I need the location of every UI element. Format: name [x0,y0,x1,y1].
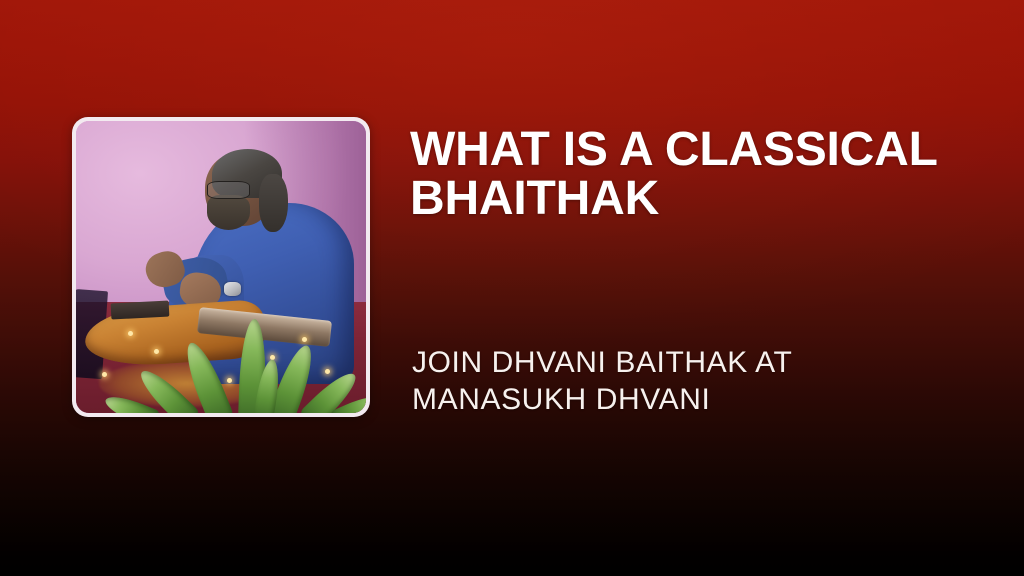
subtitle: JOIN DHVANI BAITHAK AT MANASUKH DHVANI [412,345,972,418]
promo-banner: WHAT IS A CLASSICAL BHAITHAK JOIN DHVANI… [0,0,1024,576]
subtitle-line-1: JOIN DHVANI BAITHAK AT [412,345,972,382]
headline-line-2: BHAITHAK [410,175,1010,224]
headline: WHAT IS A CLASSICAL BHAITHAK [410,126,1010,224]
headline-line-1: WHAT IS A CLASSICAL [410,126,1010,175]
photo-image [76,121,366,413]
photo-card [72,117,370,417]
subject-ponytail [259,174,288,232]
subtitle-line-2: MANASUKH DHVANI [412,382,972,419]
subject-glasses [207,181,250,199]
agave-plant [76,232,366,413]
